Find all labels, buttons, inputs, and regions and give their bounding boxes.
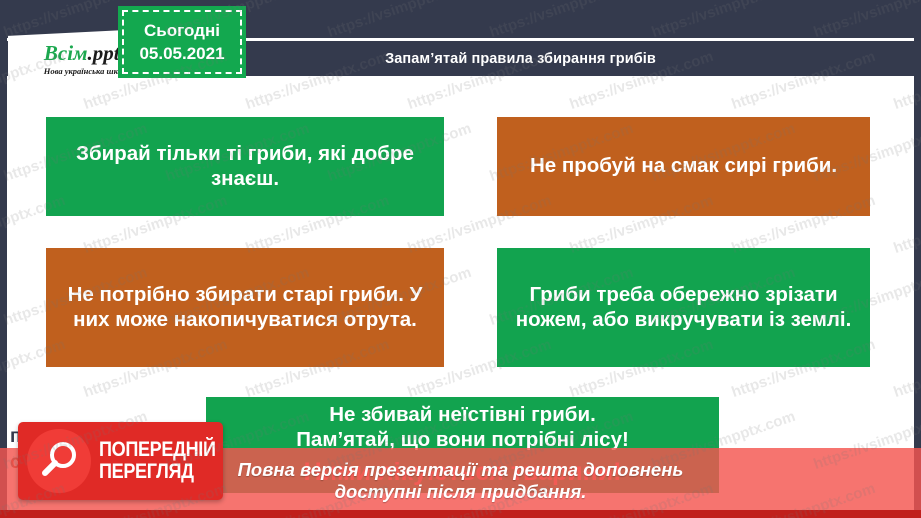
rule-box-1-text: Збирай тільки ті гриби, які добре знаєш. — [60, 142, 430, 191]
rule-box-3: Не потрібно збирати старі гриби. У них м… — [46, 248, 444, 367]
rule-box-1: Збирай тільки ті гриби, які добре знаєш. — [46, 117, 444, 216]
slide-frame-right — [914, 0, 921, 518]
rule-box-2-text: Не пробуй на смак сирі гриби. — [530, 154, 837, 179]
today-date-value: 05.05.2021 — [139, 44, 224, 64]
preview-badge-line1: ПОПЕРЕДНІЙ — [99, 439, 216, 461]
rule-box-4-text: Гриби треба обережно зрізати ножем, або … — [511, 283, 856, 332]
rule-box-5-body: Не збивай неїстівні гриби. Пам’ятай, що … — [296, 403, 629, 452]
today-date-card: Сьогодні 05.05.2021 — [118, 6, 246, 78]
rule-box-4: Гриби треба обережно зрізати ножем, або … — [497, 248, 870, 367]
slide-frame-left — [0, 0, 7, 518]
rule-box-3-text: Не потрібно збирати старі гриби. У них м… — [60, 283, 430, 332]
page-title: Запам’ятай правила збирання грибів — [265, 51, 656, 67]
preview-badge[interactable]: ПОПЕРЕДНІЙ ПЕРЕГЛЯД — [18, 422, 223, 500]
slide-canvas: Запам’ятай правила збирання грибів Всім.… — [0, 0, 921, 518]
purchase-overlay-strip — [0, 510, 921, 518]
preview-badge-line2: ПЕРЕГЛЯД — [99, 461, 216, 483]
magnifier-icon — [27, 429, 91, 493]
preview-badge-label: ПОПЕРЕДНІЙ ПЕРЕГЛЯД — [99, 439, 216, 484]
today-label: Сьогодні — [144, 21, 220, 41]
rule-box-2: Не пробуй на смак сирі гриби. — [497, 117, 870, 216]
brand-logo-name-main: Всім — [44, 41, 88, 65]
rule-box-5-line1: Не збивай неїстівні гриби. — [296, 403, 629, 428]
